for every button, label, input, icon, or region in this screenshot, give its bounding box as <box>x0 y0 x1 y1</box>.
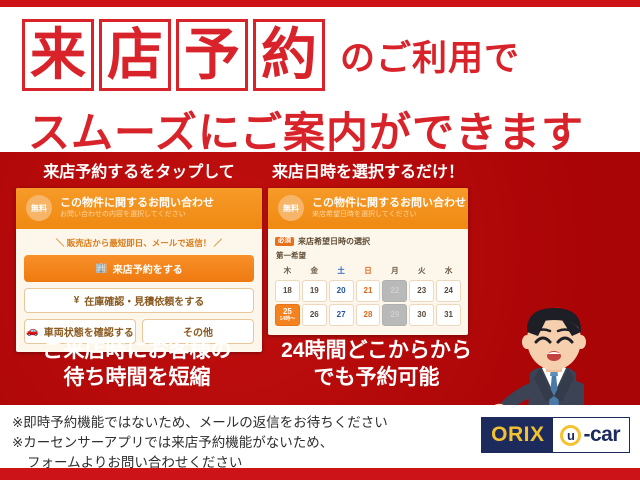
calendar-day-cell[interactable]: 24 <box>436 280 461 302</box>
headline-line-2: スムーズにご案内ができます <box>28 99 584 160</box>
mockup-header-subtitle: お問い合わせの内容を選択してください <box>60 210 254 219</box>
mockup-header-title: この物件に関するお問い合わせ <box>60 197 254 209</box>
calendar-day-number: 26 <box>310 311 319 319</box>
calendar-mockup-header-subtitle: 来店希望日時を選択してください <box>312 210 460 219</box>
calendar-day-cell[interactable]: 2514時～ <box>275 304 300 326</box>
left-column-title: 来店予約するをタップして <box>16 158 262 182</box>
calendar-grid: 木金土日月火水181920212223242514時～262728293031 <box>275 264 461 326</box>
calendar-day-number: 20 <box>337 287 346 295</box>
other-button-label: その他 <box>183 324 213 339</box>
orix-wordmark: ORIX <box>482 418 553 452</box>
headline-line-1: 来 店 予 約 のご利用で <box>22 19 520 91</box>
right-column-title: 来店日時を選択するだけ！ <box>268 158 468 182</box>
calendar-day-number: 30 <box>417 311 426 319</box>
headline-kanji-box-2: 店 <box>99 19 171 91</box>
ucar-u-circle-icon: u <box>560 425 581 446</box>
free-badge: 無料 <box>278 195 304 221</box>
calendar-day-cell[interactable]: 27 <box>329 304 354 326</box>
required-badge: 必須 <box>275 237 294 247</box>
right-feature-caption: 24時間どこからから でも予約可能 <box>274 338 479 392</box>
ucar-wordmark: u -car <box>553 418 629 452</box>
reserve-visit-button[interactable]: 🏢 来店予約をする <box>24 255 254 282</box>
calendar-section-label: 来店希望日時の選択 <box>298 236 370 247</box>
right-feature-column: 来店日時を選択するだけ！ 無料 この物件に関するお問い合わせ 来店希望日時を選択… <box>268 158 468 335</box>
calendar-weekday-header: 金 <box>302 264 327 278</box>
calendar-day-number: 21 <box>364 287 373 295</box>
calendar-day-number: 27 <box>337 311 346 319</box>
left-feature-column: 来店予約するをタップして 無料 この物件に関するお問い合わせ お問い合わせの内容… <box>16 158 262 352</box>
reserve-visit-button-label: 来店予約をする <box>113 261 183 276</box>
calendar-weekday-header: 火 <box>409 264 434 278</box>
store-icon: 🏢 <box>95 264 107 274</box>
right-caption-line-2: でも予約可能 <box>274 365 479 392</box>
calendar-day-time-label: 14時～ <box>280 317 296 322</box>
calendar-mockup-header-title: この物件に関するお問い合わせ <box>312 197 460 209</box>
vehicle-condition-button-label: 車両状態を確認する <box>44 324 134 339</box>
preference-label: 第一希望 <box>276 250 461 261</box>
mockup-header-bar: 無料 この物件に関するお問い合わせ お問い合わせの内容を選択してください <box>16 188 262 229</box>
calendar-mockup-header-texts: この物件に関するお問い合わせ 来店希望日時を選択してください <box>312 197 460 218</box>
orix-ucar-logo: ORIX u -car <box>481 417 630 453</box>
businessman-illustration <box>494 298 614 405</box>
calendar-day-number: 22 <box>390 287 399 295</box>
calendar-day-cell[interactable]: 28 <box>356 304 381 326</box>
headline-block: 来 店 予 約 のご利用で スムーズにご案内ができます <box>0 7 640 152</box>
reply-promise-note: ＼ 販売店から最短即日、メールで返信！ ／ <box>24 237 254 249</box>
calendar-day-cell: 29 <box>382 304 407 326</box>
bottom-red-rule <box>0 468 640 480</box>
calendar-day-number: 23 <box>417 287 426 295</box>
footer-block: ※即時予約機能ではないため、メールの返信をお待ちください ※カーセンサーアプリで… <box>0 405 640 468</box>
left-caption-line-2: 待ち時間を短縮 <box>6 365 268 392</box>
calendar-day-number: 28 <box>364 311 373 319</box>
stock-quote-button-label: 在庫確認・見積依頼をする <box>84 293 204 308</box>
calendar-weekday-header: 木 <box>275 264 300 278</box>
calendar-day-number: 18 <box>283 287 292 295</box>
yen-icon: ¥ <box>74 296 80 306</box>
headline-kanji-box-3: 予 <box>176 19 248 91</box>
calendar-weekday-header: 水 <box>436 264 461 278</box>
calendar-weekday-header: 月 <box>382 264 407 278</box>
mockup-header-texts: この物件に関するお問い合わせ お問い合わせの内容を選択してください <box>60 197 254 218</box>
calendar-day-cell[interactable]: 20 <box>329 280 354 302</box>
disclaimer-line-1: ※即時予約機能ではないため、メールの返信をお待ちください <box>12 413 388 433</box>
disclaimer-line-2: ※カーセンサーアプリでは来店予約機能がないため、 <box>12 433 388 453</box>
stock-quote-button[interactable]: ¥ 在庫確認・見積依頼をする <box>24 288 254 313</box>
calendar-day-cell[interactable]: 21 <box>356 280 381 302</box>
footer-disclaimer: ※即時予約機能ではないため、メールの返信をお待ちください ※カーセンサーアプリで… <box>12 413 388 473</box>
mockup-body: ＼ 販売店から最短即日、メールで返信！ ／ 🏢 来店予約をする ¥ 在庫確認・見… <box>16 229 262 352</box>
promo-banner: 来 店 予 約 のご利用で スムーズにご案内ができます 来店予約するをタップして… <box>0 0 640 480</box>
calendar-day-number: 25 <box>283 308 292 316</box>
inquiry-form-mockup: 無料 この物件に関するお問い合わせ お問い合わせの内容を選択してください ＼ 販… <box>16 188 262 352</box>
calendar-day-number: 31 <box>444 311 453 319</box>
calendar-weekday-header: 土 <box>329 264 354 278</box>
calendar-mockup-header-bar: 無料 この物件に関するお問い合わせ 来店希望日時を選択してください <box>268 188 468 229</box>
calendar-label-row: 必須 来店希望日時の選択 <box>275 236 461 247</box>
top-red-rule <box>0 0 640 7</box>
red-feature-panel: 来店予約するをタップして 無料 この物件に関するお問い合わせ お問い合わせの内容… <box>0 152 640 405</box>
headline-kanji-box-1: 来 <box>22 19 94 91</box>
ucar-car-text: -car <box>583 423 620 447</box>
calendar-day-cell[interactable]: 23 <box>409 280 434 302</box>
calendar-day-cell[interactable]: 31 <box>436 304 461 326</box>
left-feature-caption: ご来店時にお客様の 待ち時間を短縮 <box>6 338 268 392</box>
right-caption-line-1: 24時間どこからから <box>274 338 479 365</box>
headline-tail-text: のご利用で <box>340 30 520 81</box>
calendar-day-cell[interactable]: 26 <box>302 304 327 326</box>
left-caption-line-1: ご来店時にお客様の <box>6 338 268 365</box>
calendar-day-cell[interactable]: 30 <box>409 304 434 326</box>
headline-kanji-box-4: 約 <box>253 19 325 91</box>
calendar-form-mockup: 無料 この物件に関するお問い合わせ 来店希望日時を選択してください 必須 来店希… <box>268 188 468 335</box>
calendar-section: 必須 来店希望日時の選択 第一希望 木金土日月火水181920212223242… <box>268 229 468 335</box>
calendar-weekday-header: 日 <box>356 264 381 278</box>
calendar-day-cell[interactable]: 18 <box>275 280 300 302</box>
calendar-day-number: 29 <box>390 311 399 319</box>
calendar-day-cell: 22 <box>382 280 407 302</box>
car-icon: 🚗 <box>26 327 38 337</box>
calendar-day-cell[interactable]: 19 <box>302 280 327 302</box>
calendar-day-number: 24 <box>444 287 453 295</box>
calendar-day-number: 19 <box>310 287 319 295</box>
free-badge: 無料 <box>26 195 52 221</box>
